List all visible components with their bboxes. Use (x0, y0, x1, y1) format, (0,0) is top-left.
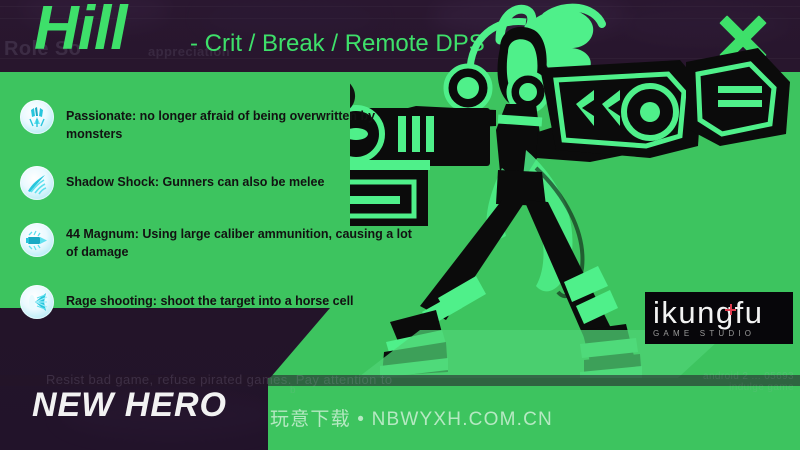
ability-row-shadow-shock[interactable]: Shadow Shock: Gunners can also be melee (20, 166, 440, 200)
ability-text: Rage shooting: shoot the target into a h… (66, 285, 354, 310)
burst-shot-icon (20, 285, 54, 319)
page-title: Hill (34, 0, 126, 60)
new-hero-label: NEW HERO (32, 386, 227, 425)
site-watermark: 玩意下载 • NBWYXH.COM.CN (270, 404, 553, 431)
plus-icon (725, 304, 736, 315)
hero-showcase-screen: Role So appreciation Hill - Crit / Break… (0, 0, 800, 450)
shield-hands-icon (20, 100, 54, 134)
ability-text: Shadow Shock: Gunners can also be melee (66, 166, 324, 191)
ability-text: Passionate: no longer afraid of being ov… (66, 100, 416, 143)
ability-row-44-magnum[interactable]: 44 Magnum: Using large caliber ammunitio… (20, 223, 440, 261)
shadow-blade-icon (20, 166, 54, 200)
ability-list: Passionate: no longer afraid of being ov… (20, 100, 440, 342)
ability-row-passionate[interactable]: Passionate: no longer afraid of being ov… (20, 100, 440, 143)
ability-row-rage-shooting[interactable]: Rage shooting: shoot the target into a h… (20, 285, 440, 319)
studio-logo-tagline: GAME STUDIO (653, 329, 793, 338)
footer-dark-strip (0, 375, 800, 386)
studio-logo-name: ikungfu (653, 298, 793, 328)
ability-text: 44 Magnum: Using large caliber ammunitio… (66, 223, 416, 261)
magnum-bullet-icon (20, 223, 54, 257)
studio-logo: ikungfu GAME STUDIO (645, 292, 793, 344)
